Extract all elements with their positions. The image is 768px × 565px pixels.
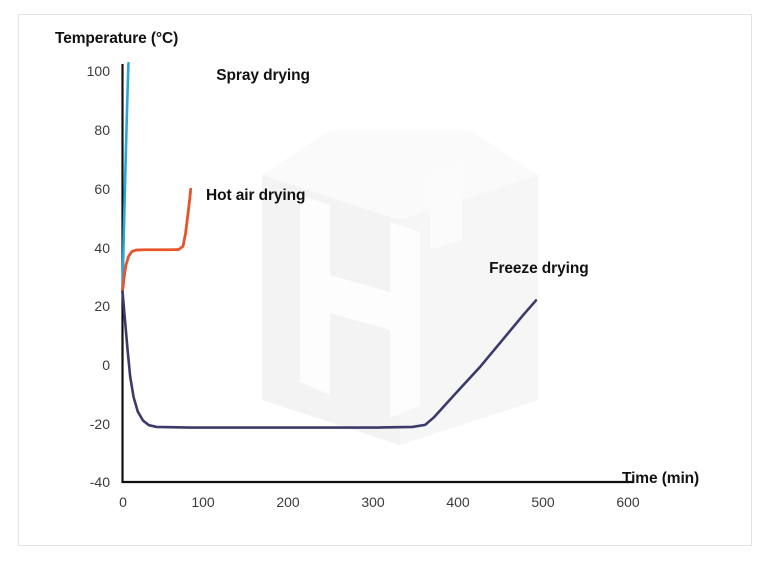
x-tick-label-400: 400: [436, 494, 480, 510]
y-tick-label-40: 40: [72, 240, 110, 256]
y-tick-label-0: 0: [72, 357, 110, 373]
y-tick-label-60: 60: [72, 181, 110, 197]
series-label-freeze-drying: Freeze drying: [489, 260, 588, 278]
y-tick-label-n40: -40: [72, 474, 110, 490]
y-tick-label-80: 80: [72, 122, 110, 138]
x-tick-label-300: 300: [351, 494, 395, 510]
x-axis-title: Time (min): [622, 470, 699, 488]
x-tick-label-600: 600: [606, 494, 650, 510]
series-line-hot-air-drying: [123, 189, 191, 292]
series-label-spray-drying: Spray drying: [216, 67, 310, 85]
hexagon-cube-h-watermark: [262, 130, 538, 445]
y-axis-title: Temperature (°C): [55, 30, 178, 48]
x-tick-label-100: 100: [181, 494, 225, 510]
x-tick-label-0: 0: [101, 494, 145, 510]
series-label-hot-air-drying: Hot air drying: [206, 187, 305, 205]
x-tick-label-200: 200: [266, 494, 310, 510]
y-tick-label-n20: -20: [72, 416, 110, 432]
y-tick-label-100: 100: [72, 63, 110, 79]
chart-page: Temperature (°C) Time (min) 100 80 60 40…: [0, 0, 768, 565]
x-tick-label-500: 500: [521, 494, 565, 510]
y-tick-label-20: 20: [72, 298, 110, 314]
